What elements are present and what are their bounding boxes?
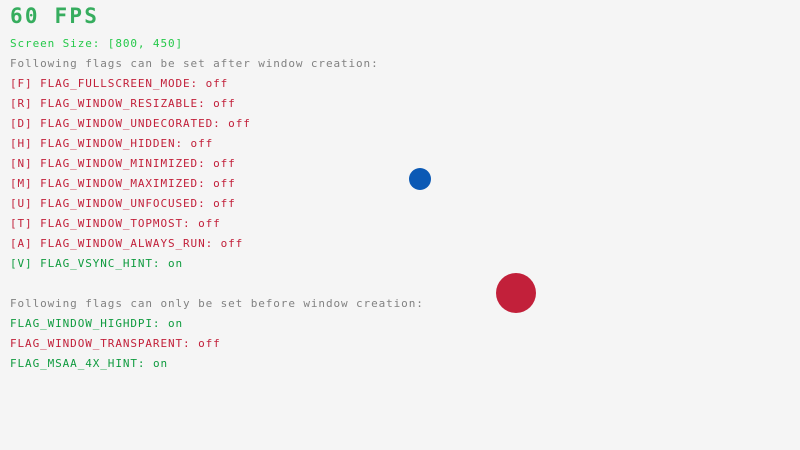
flag-state: off xyxy=(198,217,221,230)
flag-name: FLAG_WINDOW_MAXIMIZED: xyxy=(40,177,213,190)
flag-name: FLAG_FULLSCREEN_MODE: xyxy=(40,77,206,90)
flag-name: FLAG_WINDOW_UNDECORATED: xyxy=(40,117,228,130)
flag-key: [U] xyxy=(10,197,40,210)
flag-key: [M] xyxy=(10,177,40,190)
flag-key: [D] xyxy=(10,117,40,130)
flag-row-flag-msaa-4x-hint[interactable]: FLAG_MSAA_4X_HINT: on xyxy=(10,358,168,369)
flag-name: FLAG_WINDOW_RESIZABLE: xyxy=(40,97,213,110)
flag-row-flag-window-undecorated[interactable]: [D] FLAG_WINDOW_UNDECORATED: off xyxy=(10,118,251,129)
flag-name: FLAG_WINDOW_TRANSPARENT: xyxy=(10,337,198,350)
heading-runtime-flags: Following flags can be set after window … xyxy=(10,58,379,69)
flag-row-flag-window-minimized[interactable]: [N] FLAG_WINDOW_MINIMIZED: off xyxy=(10,158,236,169)
flag-key: [H] xyxy=(10,137,40,150)
flag-name: FLAG_WINDOW_ALWAYS_RUN: xyxy=(40,237,221,250)
flag-state: off xyxy=(221,237,244,250)
red-ball-shape xyxy=(496,273,536,313)
flag-name: FLAG_WINDOW_UNFOCUSED: xyxy=(40,197,213,210)
flag-key: [R] xyxy=(10,97,40,110)
flag-key: [T] xyxy=(10,217,40,230)
flag-state: on xyxy=(153,357,168,370)
flag-name: FLAG_WINDOW_TOPMOST: xyxy=(40,217,198,230)
fps-counter: 60 FPS xyxy=(10,6,99,27)
flag-row-flag-window-resizable[interactable]: [R] FLAG_WINDOW_RESIZABLE: off xyxy=(10,98,236,109)
flag-state: on xyxy=(168,257,183,270)
flag-key: [V] xyxy=(10,257,40,270)
flag-key: [A] xyxy=(10,237,40,250)
flag-state: off xyxy=(191,137,214,150)
flag-row-flag-window-always-run[interactable]: [A] FLAG_WINDOW_ALWAYS_RUN: off xyxy=(10,238,243,249)
flag-name: FLAG_MSAA_4X_HINT: xyxy=(10,357,153,370)
flag-state: off xyxy=(213,157,236,170)
flag-row-flag-fullscreen-mode[interactable]: [F] FLAG_FULLSCREEN_MODE: off xyxy=(10,78,228,89)
flag-state: off xyxy=(213,177,236,190)
flag-row-flag-vsync-hint[interactable]: [V] FLAG_VSYNC_HINT: on xyxy=(10,258,183,269)
flag-name: FLAG_WINDOW_HIDDEN: xyxy=(40,137,190,150)
flag-state: on xyxy=(168,317,183,330)
flag-row-flag-window-unfocused[interactable]: [U] FLAG_WINDOW_UNFOCUSED: off xyxy=(10,198,236,209)
heading-startup-flags: Following flags can only be set before w… xyxy=(10,298,424,309)
flag-row-flag-window-transparent[interactable]: FLAG_WINDOW_TRANSPARENT: off xyxy=(10,338,221,349)
flag-name: FLAG_WINDOW_HIGHDPI: xyxy=(10,317,168,330)
flag-name: FLAG_WINDOW_MINIMIZED: xyxy=(40,157,213,170)
flag-key: [N] xyxy=(10,157,40,170)
flag-state: off xyxy=(206,77,229,90)
blue-ball-shape xyxy=(409,168,431,190)
flag-key: [F] xyxy=(10,77,40,90)
flag-state: off xyxy=(198,337,221,350)
flag-row-flag-window-highdpi[interactable]: FLAG_WINDOW_HIGHDPI: on xyxy=(10,318,183,329)
flag-row-flag-window-maximized[interactable]: [M] FLAG_WINDOW_MAXIMIZED: off xyxy=(10,178,236,189)
raylib-window-canvas: 60 FPS Screen Size: [800, 450] Following… xyxy=(0,0,800,450)
flag-state: off xyxy=(228,117,251,130)
flag-row-flag-window-topmost[interactable]: [T] FLAG_WINDOW_TOPMOST: off xyxy=(10,218,221,229)
flag-state: off xyxy=(213,197,236,210)
flag-name: FLAG_VSYNC_HINT: xyxy=(40,257,168,270)
flag-row-flag-window-hidden[interactable]: [H] FLAG_WINDOW_HIDDEN: off xyxy=(10,138,213,149)
screen-size-label: Screen Size: [800, 450] xyxy=(10,38,183,49)
flag-state: off xyxy=(213,97,236,110)
